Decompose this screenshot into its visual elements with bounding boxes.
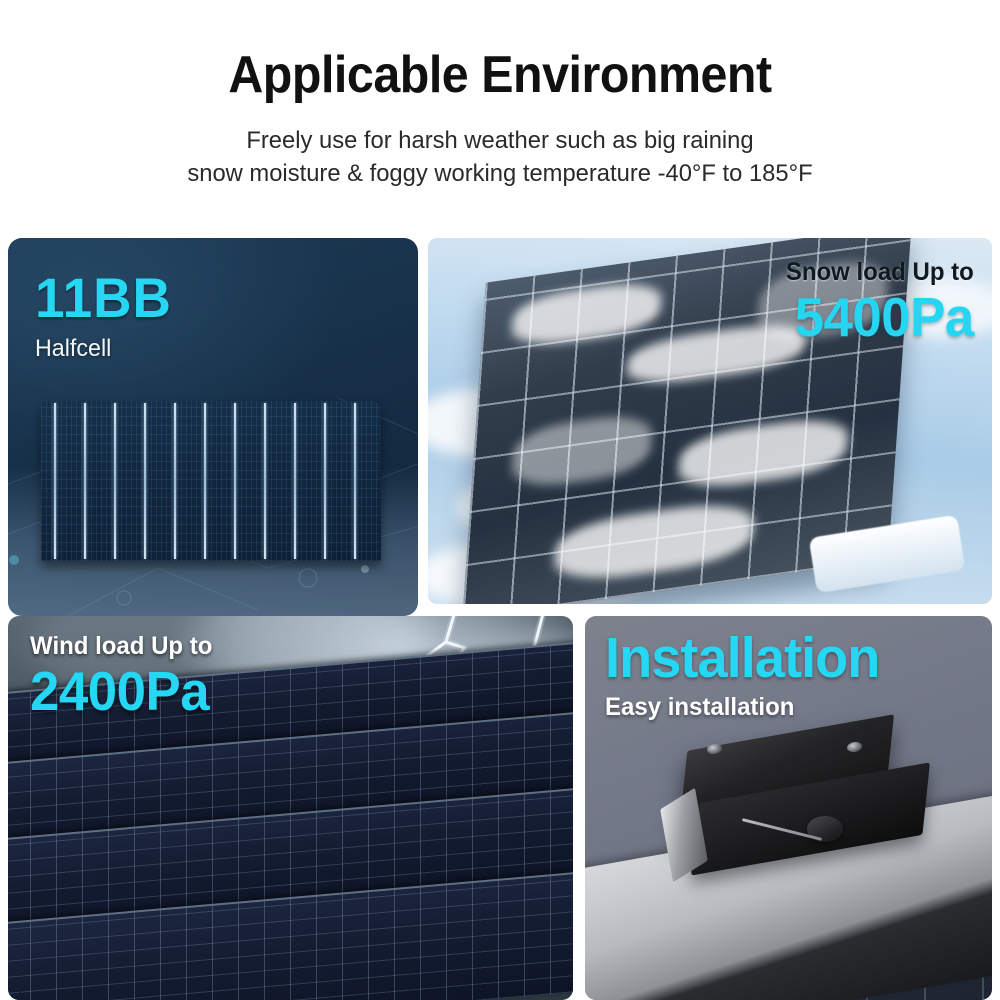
snow-load-label: Snow load Up to [786, 258, 974, 287]
halfcell-headline: 11BB [35, 270, 172, 326]
panel-snow-load: Snow load Up to 5400Pa [428, 238, 992, 604]
installation-text-block: Installation Easy installation [605, 630, 894, 722]
installation-headline: Installation [605, 630, 879, 687]
feature-panel-grid: 11BB Halfcell Snow load Up to 5400Pa [0, 238, 1000, 1000]
wind-load-text-block: Wind load Up to 2400Pa [30, 632, 220, 719]
panel-installation: Installation Easy installation [585, 616, 992, 1000]
page-subtitle: Freely use for harsh weather such as big… [0, 124, 1000, 192]
snow-load-text-block: Snow load Up to 5400Pa [778, 258, 974, 345]
subtitle-line-2: snow moisture & foggy working temperatur… [15, 157, 985, 191]
panel-wind-load: Wind load Up to 2400Pa [8, 616, 573, 1000]
installation-caption: Easy installation [605, 693, 882, 722]
solar-array-rows [8, 785, 573, 1000]
subtitle-line-1: Freely use for harsh weather such as big… [15, 124, 985, 158]
snow-load-value: 5400Pa [786, 289, 974, 345]
wind-load-label: Wind load Up to [30, 632, 212, 661]
page-title: Applicable Environment [35, 48, 965, 103]
page-header: Applicable Environment Freely use for ha… [0, 0, 1000, 191]
wind-load-value: 2400Pa [30, 663, 212, 719]
halfcell-text-block: 11BB Halfcell [35, 270, 179, 363]
solar-cell-graphic [41, 401, 381, 561]
panel-halfcell: 11BB Halfcell [8, 238, 418, 616]
halfcell-caption: Halfcell [35, 335, 175, 363]
